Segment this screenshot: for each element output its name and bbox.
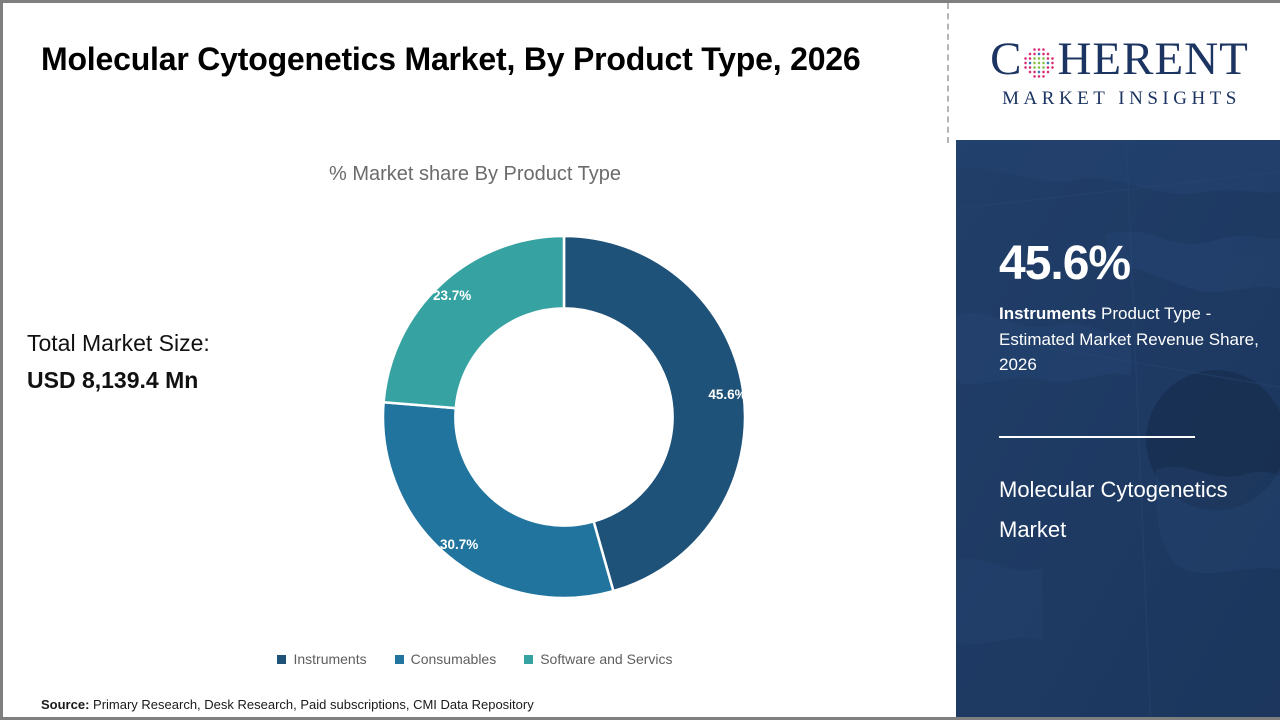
- legend-item[interactable]: Software and Servics: [524, 651, 672, 667]
- chart-legend: InstrumentsConsumablesSoftware and Servi…: [3, 651, 947, 667]
- globe-dot: [1047, 57, 1049, 59]
- legend-label: Software and Servics: [540, 651, 672, 667]
- total-market-label: Total Market Size:: [27, 325, 210, 362]
- legend-label: Instruments: [293, 651, 366, 667]
- globe-dot: [1052, 57, 1054, 59]
- globe-dot: [1047, 61, 1049, 63]
- globe-dot: [1043, 52, 1045, 54]
- globe-dot: [1043, 61, 1045, 63]
- globe-dot: [1043, 48, 1045, 50]
- globe-dot: [1038, 61, 1040, 63]
- globe-dot: [1052, 66, 1054, 68]
- total-market-value: USD 8,139.4 Mn: [27, 362, 210, 399]
- stat-description-strong: Instruments: [999, 304, 1096, 323]
- stat-percent: 45.6%: [999, 240, 1264, 288]
- globe-dot: [1029, 52, 1031, 54]
- legend-swatch: [524, 655, 533, 664]
- globe-dot: [1047, 66, 1049, 68]
- legend-swatch: [395, 655, 404, 664]
- donut-slice: [384, 236, 564, 408]
- globe-dot: [1047, 52, 1049, 54]
- globe-dot: [1038, 66, 1040, 68]
- logo-tagline: MARKET INSIGHTS: [998, 88, 1241, 110]
- globe-dot: [1043, 57, 1045, 59]
- globe-dot: [1034, 61, 1036, 63]
- donut-slice-label: 30.7%: [440, 537, 478, 552]
- logo-wordmark: C HERENT: [990, 34, 1249, 86]
- globe-dot: [1025, 57, 1027, 59]
- infographic-canvas: Molecular Cytogenetics Market, By Produc…: [0, 0, 1280, 720]
- globe-dot: [1034, 48, 1036, 50]
- globe-dot: [1038, 57, 1040, 59]
- globe-dot: [1052, 61, 1054, 63]
- chart-subtitle: % Market share By Product Type: [3, 163, 947, 186]
- legend-swatch: [277, 655, 286, 664]
- panel-divider: [947, 3, 949, 143]
- globe-dot: [1029, 61, 1031, 63]
- globe-dot: [1038, 75, 1040, 77]
- globe-dot: [1034, 70, 1036, 72]
- globe-dot: [1025, 61, 1027, 63]
- donut-slice-label: 45.6%: [708, 387, 746, 402]
- globe-dot: [1034, 75, 1036, 77]
- brand-panel: C HERENT MARKET INSIGHTS: [956, 3, 1280, 720]
- globe-dot: [1043, 75, 1045, 77]
- panel-horizontal-rule: [999, 436, 1195, 438]
- dotted-globe-icon: [1022, 46, 1056, 80]
- stat-content: 45.6% Instruments Product Type - Estimat…: [999, 240, 1264, 551]
- globe-dot: [1038, 70, 1040, 72]
- logo-letter-c: C: [990, 36, 1022, 83]
- legend-label: Consumables: [411, 651, 497, 667]
- source-label: Source:: [41, 697, 89, 712]
- globe-dot: [1029, 66, 1031, 68]
- logo-wordmark-rest: HERENT: [1057, 36, 1248, 83]
- globe-dot: [1034, 52, 1036, 54]
- panel-market-name: Molecular Cytogenetics Market: [999, 470, 1264, 551]
- stat-panel: 45.6% Instruments Product Type - Estimat…: [956, 140, 1280, 720]
- legend-item[interactable]: Instruments: [277, 651, 366, 667]
- donut-chart: 45.6%30.7%23.7%: [381, 234, 747, 600]
- globe-dot: [1034, 66, 1036, 68]
- donut-chart-svg: 45.6%30.7%23.7%: [381, 234, 747, 600]
- page-title: Molecular Cytogenetics Market, By Produc…: [41, 35, 921, 85]
- globe-dot: [1043, 66, 1045, 68]
- source-note: Source: Primary Research, Desk Research,…: [41, 697, 534, 712]
- globe-dot: [1025, 66, 1027, 68]
- globe-dot: [1029, 57, 1031, 59]
- globe-dot: [1034, 57, 1036, 59]
- globe-dot: [1038, 48, 1040, 50]
- globe-dot: [1038, 52, 1040, 54]
- globe-dot: [1043, 70, 1045, 72]
- globe-dot: [1047, 70, 1049, 72]
- donut-slice-label: 23.7%: [433, 288, 471, 303]
- logo-block: C HERENT MARKET INSIGHTS: [956, 3, 1280, 140]
- stat-description: Instruments Product Type - Estimated Mar…: [999, 301, 1264, 378]
- total-market-size-block: Total Market Size: USD 8,139.4 Mn: [27, 325, 210, 399]
- donut-slice: [383, 402, 613, 598]
- chart-panel: Molecular Cytogenetics Market, By Produc…: [3, 3, 947, 720]
- source-text: Primary Research, Desk Research, Paid su…: [89, 697, 533, 712]
- globe-dot: [1029, 70, 1031, 72]
- legend-item[interactable]: Consumables: [395, 651, 497, 667]
